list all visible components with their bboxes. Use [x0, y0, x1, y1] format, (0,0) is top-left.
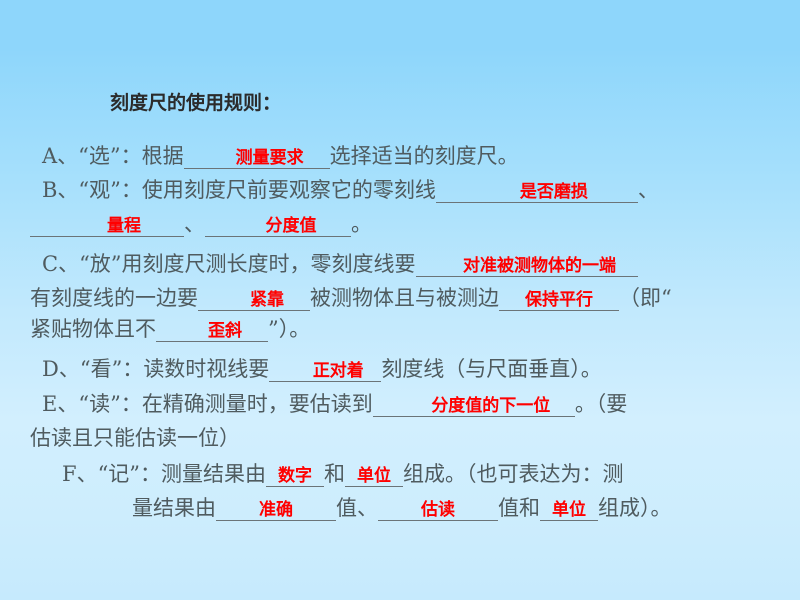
rule-b-line1: B、“观”：使用刻度尺前要观察它的零刻线是否磨损、 [42, 174, 659, 204]
rule-c-text2: 有刻度线的一边要 [30, 286, 198, 310]
rule-f-line1: F、“记”：测量结果由数字和单位组成。（也可表达为：测 [62, 458, 624, 488]
rule-c-line3: 紧贴物体且不歪斜”）。 [30, 313, 310, 343]
rule-f-answer2: 单位 [357, 466, 391, 486]
rule-f-answer1: 数字 [278, 466, 312, 486]
rule-c-label: C、“放” [42, 252, 122, 276]
rule-a-text1: 根据 [142, 144, 184, 168]
rule-c-text1: 用刻度尺测长度时，零刻度线要 [122, 252, 416, 276]
rule-c-answer1: 对准被测物体的一端 [463, 256, 616, 276]
rule-d-label: D、“看”： [42, 357, 143, 381]
rule-d-text2: 刻度线（与尺面垂直）。 [381, 357, 602, 381]
rule-b-answer3: 分度值 [266, 216, 317, 236]
rule-c-answer3: 保持平行 [525, 290, 593, 310]
rule-e-line2: 估读且只能估读一位） [30, 422, 240, 452]
rule-e-text2: 。（要 [575, 392, 628, 416]
rule-c-line1: C、“放”用刻度尺测长度时，零刻度线要对准被测物体的一端 [42, 248, 638, 278]
rule-b-text4: 。 [351, 212, 372, 236]
rule-d-text1: 读数时视线要 [143, 357, 269, 381]
rule-c-answer4: 歪斜 [208, 321, 242, 341]
rule-f-label: F、“记”： [62, 462, 161, 486]
rule-c-text6: ”）。 [268, 317, 310, 341]
rule-b-line2: 量程、分度值。 [30, 208, 372, 238]
rule-e-answer1: 分度值的下一位 [431, 396, 550, 416]
rule-b-label: B、“观”： [42, 178, 142, 202]
rule-b-text2: 、 [638, 178, 659, 202]
rule-b-text1: 使用刻度尺前要观察它的零刻线 [142, 178, 436, 202]
rule-c-answer2: 紧靠 [250, 290, 284, 310]
rule-e-text1: 在精确测量时，要估读到 [142, 392, 373, 416]
rule-b-text3: 、 [184, 212, 205, 236]
rule-f-text6: 值和 [498, 496, 540, 520]
rule-a-label: A、“选”： [42, 144, 142, 168]
rule-b-answer2: 量程 [107, 216, 141, 236]
rule-f-answer5: 单位 [552, 500, 586, 520]
slide-canvas: 刻度尺的使用规则： A、“选”：根据测量要求选择适当的刻度尺。 B、“观”：使用… [0, 0, 800, 600]
rule-a-answer1: 测量要求 [236, 148, 304, 168]
rule-b-answer1: 是否磨损 [520, 182, 588, 202]
rule-c-text3: 被测物体且与被测边 [310, 286, 499, 310]
rule-e-line1: E、“读”：在精确测量时，要估读到分度值的下一位。（要 [42, 388, 627, 418]
rule-d-answer1: 正对着 [313, 361, 364, 381]
rule-f-text2: 和 [324, 462, 345, 486]
rule-a-text2: 选择适当的刻度尺。 [330, 144, 519, 168]
rule-a-line: A、“选”：根据测量要求选择适当的刻度尺。 [42, 140, 519, 170]
rule-f-answer3: 准确 [259, 500, 293, 520]
rule-f-text4: 量结果由 [132, 496, 216, 520]
rule-f-line2: 量结果由准确值、估读值和单位组成）。 [132, 492, 672, 522]
rule-c-text4: （即“ [619, 286, 672, 310]
rule-c-line2: 有刻度线的一边要紧靠被测物体且与被测边保持平行（即“ [30, 282, 672, 312]
rule-d-line: D、“看”：读数时视线要正对着刻度线（与尺面垂直）。 [42, 353, 602, 383]
slide-content-body: 刻度尺的使用规则： A、“选”：根据测量要求选择适当的刻度尺。 B、“观”：使用… [0, 0, 800, 600]
rule-f-text5: 值、 [336, 496, 378, 520]
rule-f-text7: 组成）。 [598, 496, 672, 520]
page-title: 刻度尺的使用规则： [110, 88, 281, 115]
rule-e-label: E、“读”： [42, 392, 142, 416]
rule-c-text5: 紧贴物体且不 [30, 317, 156, 341]
rule-e-text3: 估读且只能估读一位） [30, 426, 240, 450]
rule-f-answer4: 估读 [421, 500, 455, 520]
rule-f-text3: 组成。（也可表达为：测 [403, 462, 624, 486]
rule-f-text1: 测量结果由 [161, 462, 266, 486]
